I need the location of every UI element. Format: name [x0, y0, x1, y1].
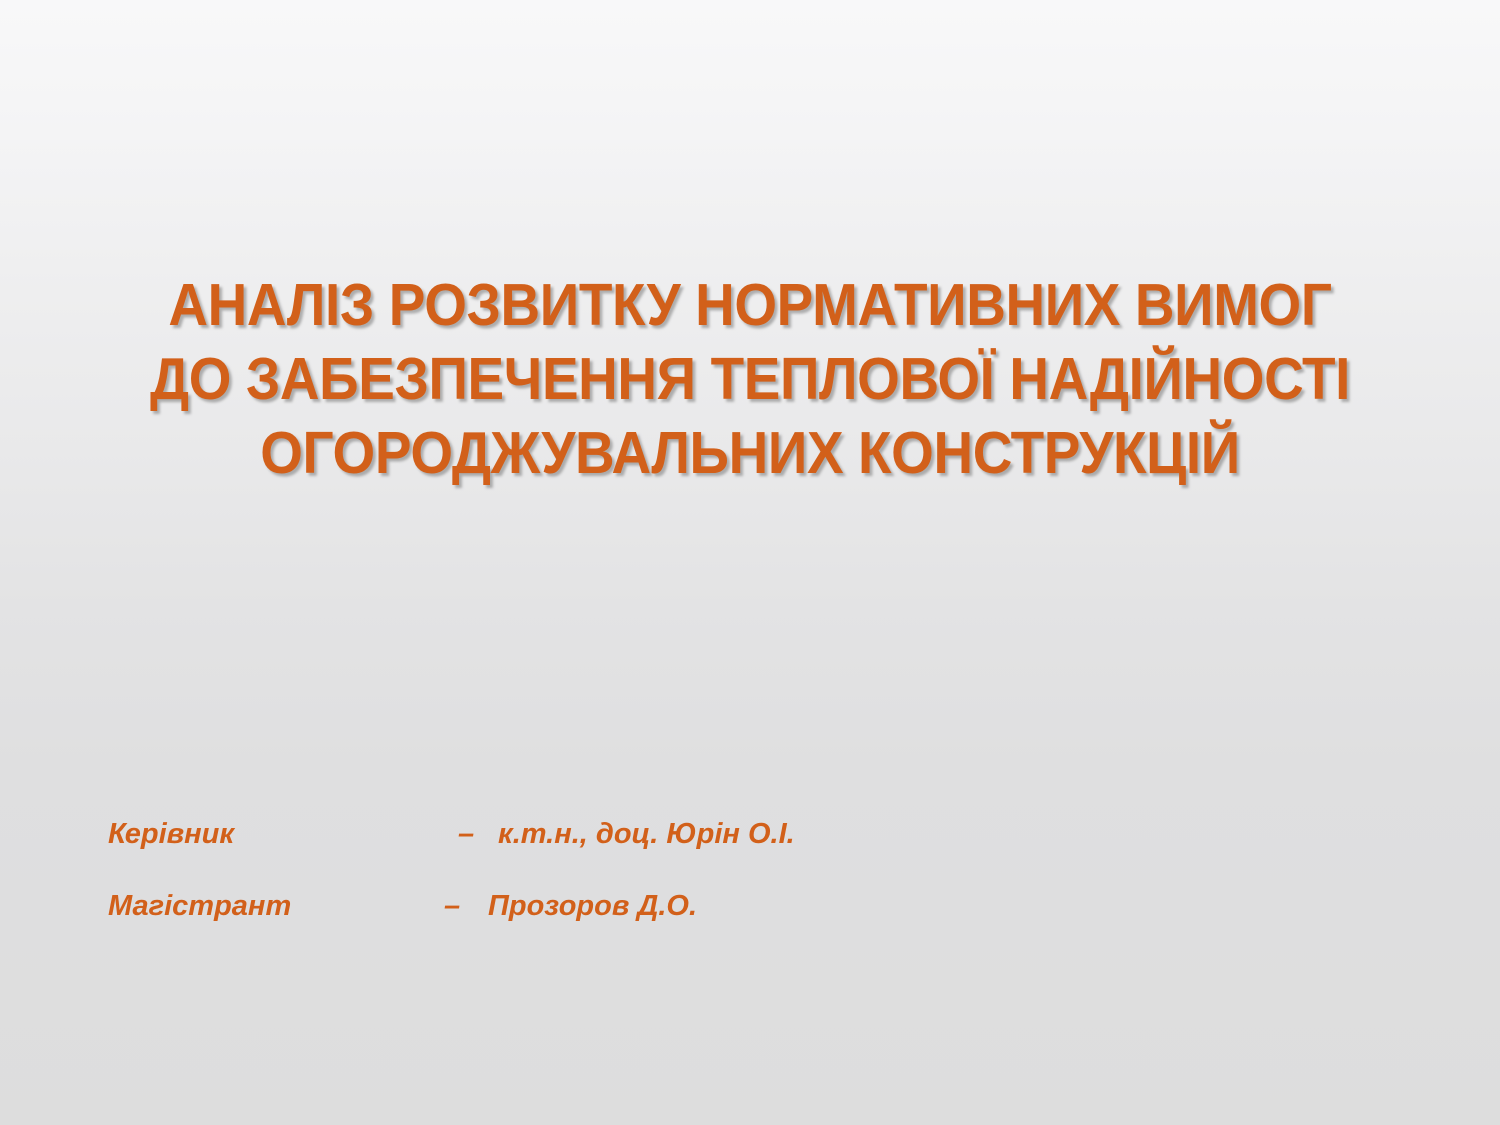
credits-block: Керівник – к.т.н., доц. Юрін О.І. Магіст…: [108, 818, 1108, 962]
credit-name-supervisor: к.т.н., доц. Юрін О.І.: [498, 818, 795, 851]
credit-name-student: Прозоров Д.О.: [488, 890, 697, 923]
title-line-3: ОГОРОДЖУВАЛЬНИХ КОНСТРУКЦІЙ: [142, 416, 1358, 490]
credit-dash-supervisor: –: [458, 818, 498, 851]
credit-role-student: Магістрант: [108, 890, 444, 923]
presentation-slide: АНАЛІЗ РОЗВИТКУ НОРМАТИВНИХ ВИМОГ ДО ЗАБ…: [0, 0, 1500, 1125]
credit-row-student: Магістрант – Прозоров Д.О.: [108, 890, 1108, 962]
title-line-2: ДО ЗАБЕЗПЕЧЕННЯ ТЕПЛОВОЇ НАДІЙНОСТІ: [142, 342, 1358, 416]
slide-title: АНАЛІЗ РОЗВИТКУ НОРМАТИВНИХ ВИМОГ ДО ЗАБ…: [96, 268, 1404, 490]
title-line-1: АНАЛІЗ РОЗВИТКУ НОРМАТИВНИХ ВИМОГ: [142, 268, 1358, 342]
credit-row-supervisor: Керівник – к.т.н., доц. Юрін О.І.: [108, 818, 1108, 890]
credit-role-supervisor: Керівник: [108, 818, 458, 851]
credit-dash-student: –: [444, 890, 488, 923]
